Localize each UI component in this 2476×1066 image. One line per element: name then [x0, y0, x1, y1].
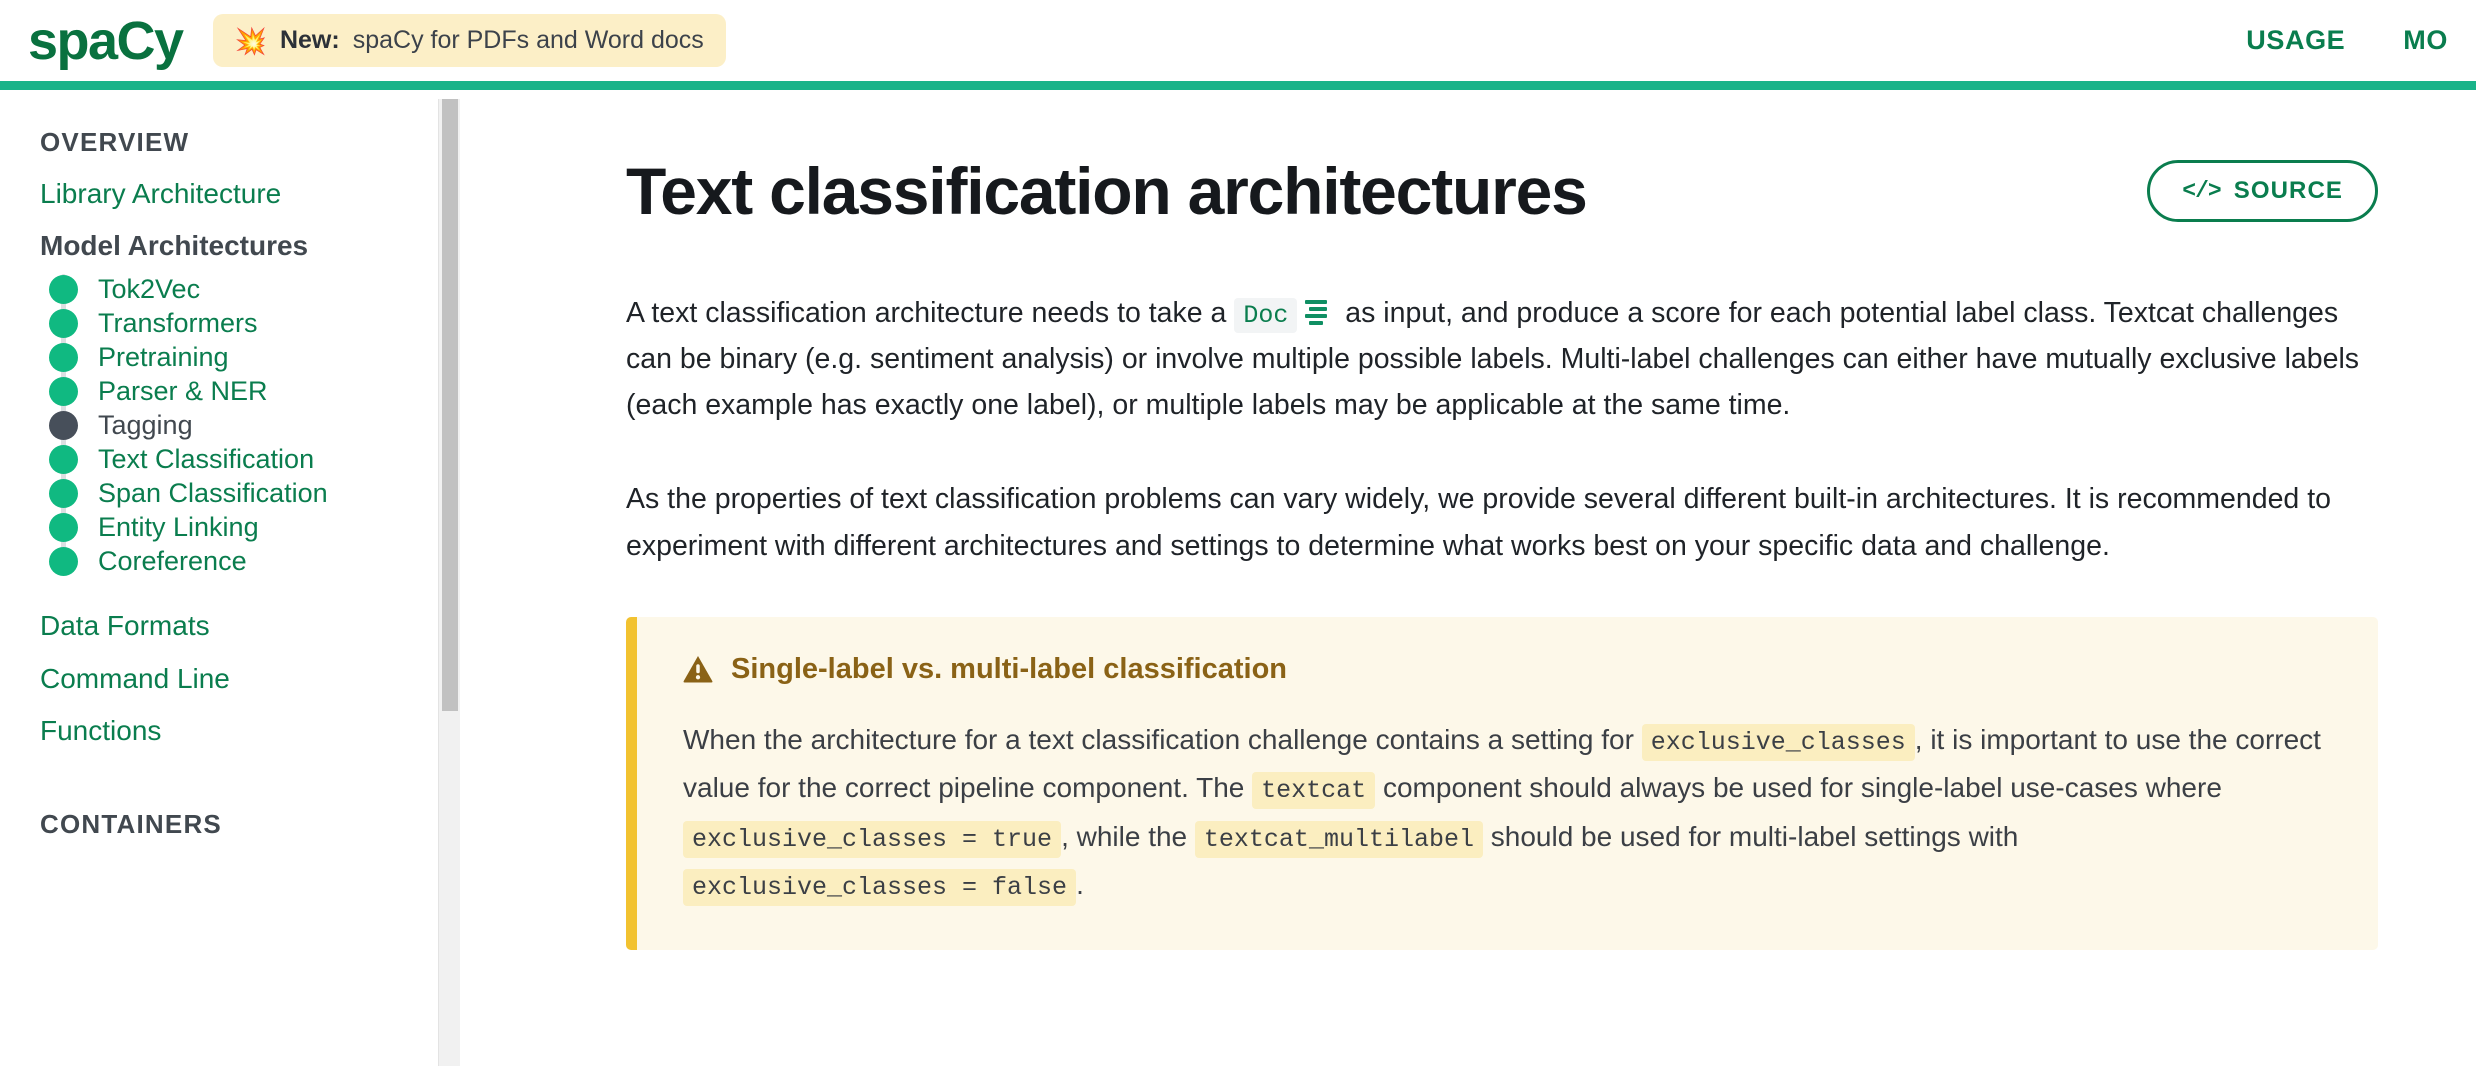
inline-code-doc[interactable]: Doc [1234, 298, 1297, 333]
intro-paragraph-2: As the properties of text classification… [626, 476, 2378, 568]
sidebar-spacer [40, 767, 438, 809]
sidebar-item-label: Tok2Vec [98, 275, 200, 305]
warning-seg-4: , while the [1061, 821, 1187, 852]
inline-code-exclusive-classes: exclusive_classes [1642, 724, 1915, 761]
warning-seg-5: should be used for multi-label settings … [1491, 821, 2019, 852]
site-header: spaCy 💥 New: spaCy for PDFs and Word doc… [0, 0, 2476, 90]
inline-code-exclusive-classes-false: exclusive_classes = false [683, 869, 1076, 906]
sidebar-item-label: Transformers [98, 309, 258, 339]
announcement-banner[interactable]: 💥 New: spaCy for PDFs and Word docs [213, 14, 726, 67]
intro-paragraph-1: A text classification architecture needs… [626, 290, 2378, 429]
sidebar-section-overview: OVERVIEW [40, 127, 438, 158]
nav-item-usage[interactable]: USAGE [2246, 25, 2345, 56]
warning-title-text: Single-label vs. multi-label classificat… [731, 653, 1287, 686]
spacy-logo[interactable]: spaCy [28, 14, 183, 68]
bullet-dot-icon [49, 445, 78, 474]
warning-seg-1: When the architecture for a text classif… [683, 724, 1634, 755]
sidebar-item-label: Span Classification [98, 479, 328, 509]
sidebar-item-library-architecture[interactable]: Library Architecture [40, 178, 438, 210]
source-button[interactable]: </> SOURCE [2147, 160, 2378, 222]
page-title: Text classification architectures [626, 155, 1587, 228]
sidebar-scrollbar-track[interactable] [438, 99, 460, 1066]
sidebar-group-model-architectures[interactable]: Model Architectures [40, 230, 438, 262]
banner-new-label: New: [280, 26, 340, 55]
warning-seg-6: . [1076, 869, 1084, 900]
sidebar-item-label: Pretraining [98, 343, 229, 373]
collision-emoji: 💥 [235, 28, 267, 54]
sidebar-item-entity-linking[interactable]: Entity Linking [40, 510, 438, 544]
sidebar-item-transformers[interactable]: Transformers [40, 306, 438, 340]
doc-lines-icon[interactable] [1305, 300, 1327, 324]
sidebar-item-coreference[interactable]: Coreference [40, 544, 438, 578]
sidebar-item-tok2vec[interactable]: Tok2Vec [40, 272, 438, 306]
sidebar-item-text-classification[interactable]: Text Classification [40, 442, 438, 476]
sidebar-item-data-formats[interactable]: Data Formats [40, 610, 438, 642]
warning-body-text: When the architecture for a text classif… [683, 716, 2336, 910]
banner-text: spaCy for PDFs and Word docs [353, 26, 704, 55]
bullet-dot-icon [49, 547, 78, 576]
sidebar-item-tagging[interactable]: Tagging [40, 408, 438, 442]
sidebar-section-containers: CONTAINERS [40, 809, 438, 840]
sidebar-navigation[interactable]: OVERVIEW Library Architecture Model Arch… [0, 99, 438, 1066]
inline-code-exclusive-classes-true: exclusive_classes = true [683, 821, 1061, 858]
sidebar-item-label: Parser & NER [98, 377, 268, 407]
warning-callout: Single-label vs. multi-label classificat… [626, 617, 2378, 950]
sidebar-item-label: Coreference [98, 547, 247, 577]
sidebar-spacer [40, 588, 438, 610]
bullet-dot-icon [49, 309, 78, 338]
inline-code-textcat-multilabel: textcat_multilabel [1195, 821, 1483, 858]
sidebar-item-label: Entity Linking [98, 513, 259, 543]
bullet-dot-icon [49, 377, 78, 406]
warning-seg-3: component should always be used for sing… [1383, 772, 2222, 803]
code-brackets-icon: </> [2182, 178, 2220, 204]
source-button-label: SOURCE [2234, 177, 2343, 205]
bullet-dot-icon [49, 275, 78, 304]
sidebar-item-functions[interactable]: Functions [40, 715, 438, 747]
sidebar-item-command-line[interactable]: Command Line [40, 663, 438, 695]
sidebar-item-pretraining[interactable]: Pretraining [40, 340, 438, 374]
sidebar-item-parser-ner[interactable]: Parser & NER [40, 374, 438, 408]
warning-title-row: Single-label vs. multi-label classificat… [683, 653, 2336, 686]
warning-triangle-icon [683, 655, 713, 683]
bullet-dot-icon [49, 513, 78, 542]
top-navigation: USAGE MO [2246, 25, 2448, 56]
sidebar-scrollbar-thumb[interactable] [442, 99, 458, 711]
bullet-dot-icon [49, 343, 78, 372]
page-header-row: Text classification architectures </> SO… [626, 155, 2378, 228]
main-content: Text classification architectures </> SO… [461, 99, 2476, 1066]
sidebar-item-label: Tagging [98, 411, 193, 441]
paragraph-text-before-code: A text classification architecture needs… [626, 297, 1226, 329]
inline-code-textcat: textcat [1252, 772, 1375, 809]
bullet-dot-icon [49, 479, 78, 508]
sidebar-subnav-tree: Tok2Vec Transformers Pretraining Parser … [40, 272, 438, 578]
sidebar-item-label: Text Classification [98, 445, 314, 475]
nav-item-models[interactable]: MO [2403, 25, 2448, 56]
sidebar-item-span-classification[interactable]: Span Classification [40, 476, 438, 510]
bullet-dot-icon [49, 411, 78, 440]
